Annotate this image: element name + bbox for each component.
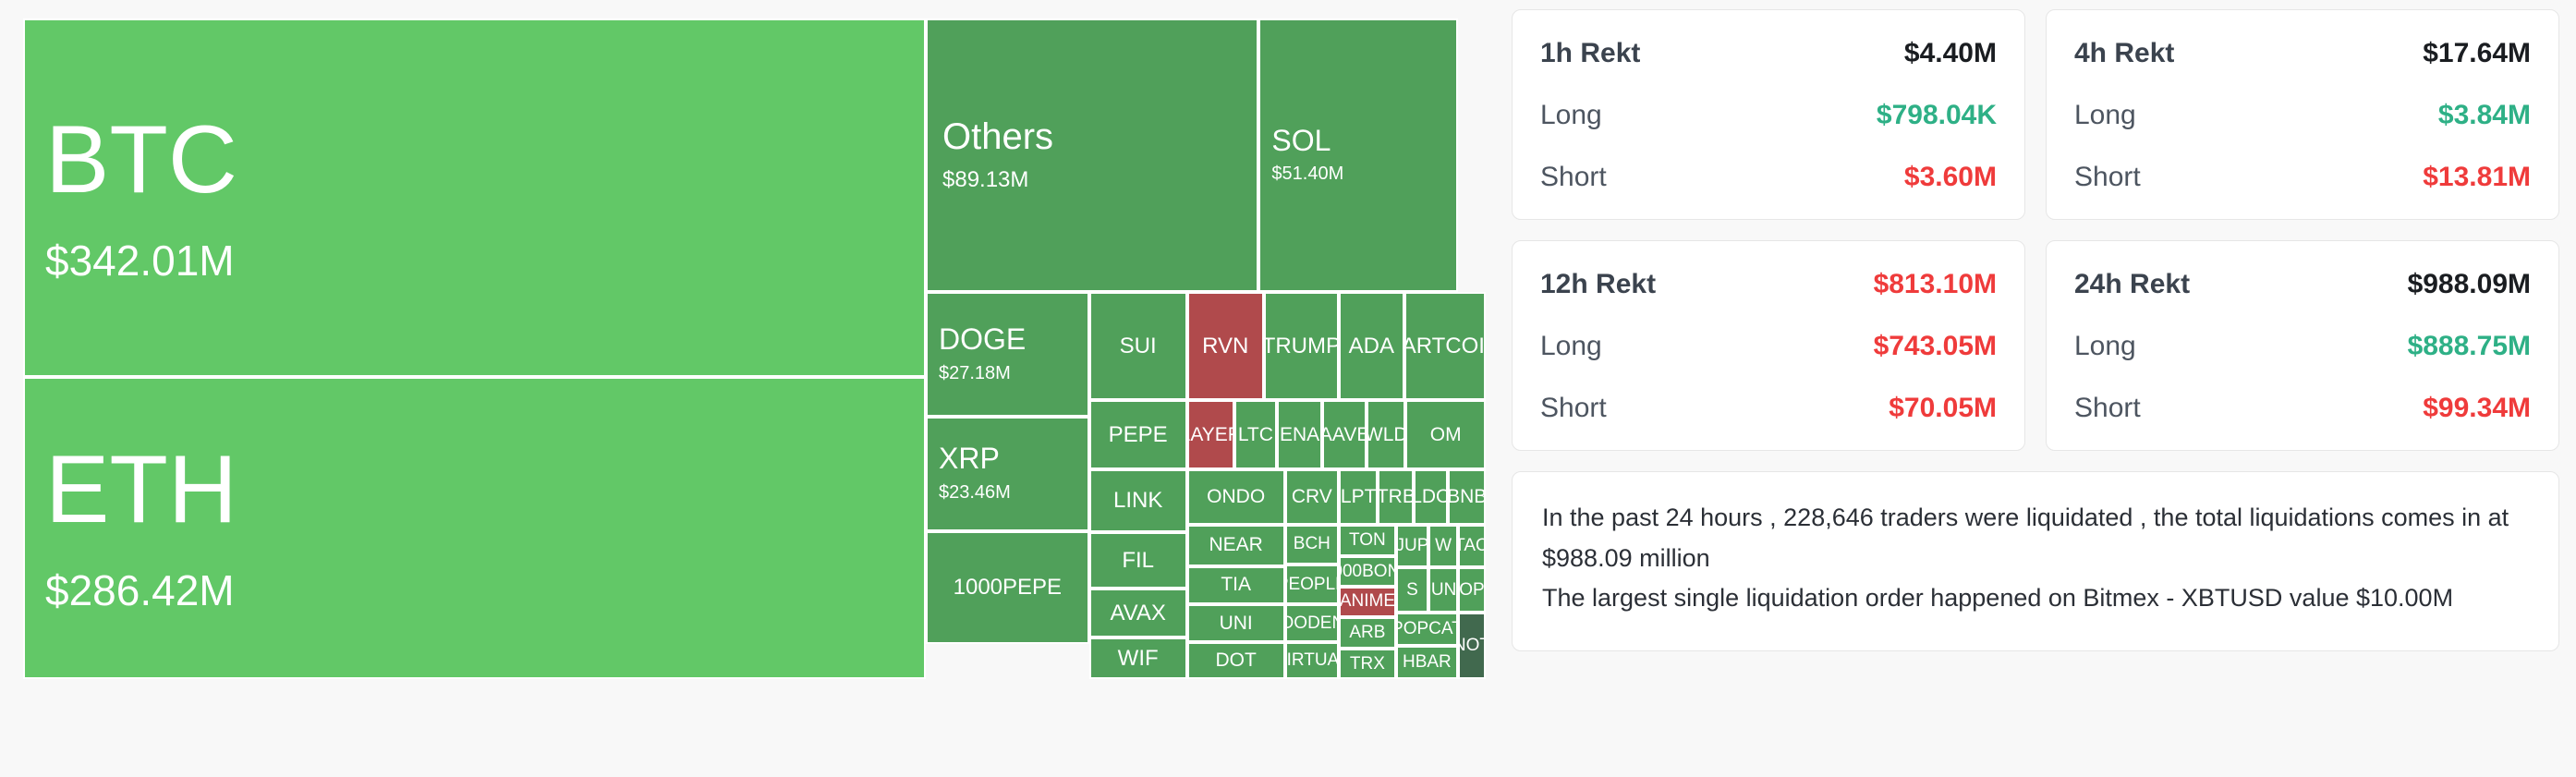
tile-symbol: XRP	[939, 443, 1076, 475]
tile-symbol: ENA	[1280, 425, 1319, 445]
tile-symbol: OM	[1430, 425, 1462, 445]
tile-symbol: 1000BONK	[1339, 563, 1396, 581]
tile-symbol: PEPE	[1109, 423, 1168, 446]
treemap-tile-aave[interactable]: AAVE	[1322, 400, 1367, 468]
treemap-tile-not[interactable]: NOT	[1458, 613, 1486, 679]
tile-symbol: NOT	[1458, 637, 1486, 655]
treemap-tile-trb[interactable]: TRB	[1378, 469, 1414, 525]
tile-symbol: AAVE	[1322, 425, 1367, 445]
treemap-tile-virtual[interactable]: VIRTUAL	[1285, 642, 1339, 679]
treemap-tile-link[interactable]: LINK	[1089, 469, 1187, 533]
tile-symbol: POPCAT	[1396, 620, 1458, 638]
tile-symbol: SUI	[1120, 334, 1157, 358]
treemap-tile-crv[interactable]: CRV	[1285, 469, 1339, 525]
long-value: $743.05M	[1874, 331, 1997, 362]
tile-symbol: Others	[942, 117, 1242, 156]
tile-symbol: SOL	[1271, 126, 1445, 157]
stats-panel: 1h Rekt$4.40MLong$798.04KShort$3.60M4h R…	[1495, 0, 2576, 777]
card-row: 1h Rekt$4.40M	[1540, 38, 1997, 69]
tile-symbol: LTC	[1238, 425, 1273, 445]
treemap-tile-people[interactable]: PEOPLE	[1285, 565, 1339, 604]
tile-symbol: RUNE	[1428, 581, 1458, 600]
short-value: $3.60M	[1904, 162, 1997, 193]
card-row: Short$70.05M	[1540, 393, 1997, 424]
long-label: Long	[1540, 100, 1602, 131]
treemap-tile-moodeng[interactable]: MOODENG	[1285, 604, 1339, 642]
treemap-tile-arb[interactable]: ARB	[1339, 617, 1396, 649]
rekt-card-grid: 1h Rekt$4.40MLong$798.04KShort$3.60M4h R…	[1512, 9, 2559, 451]
summary-card: In the past 24 hours , 228,646 traders w…	[1512, 471, 2559, 651]
card-row: Long$888.75M	[2074, 331, 2531, 362]
treemap-tile-trump[interactable]: TRUMP	[1264, 292, 1339, 400]
tile-value: $27.18M	[939, 363, 1076, 384]
tile-symbol: TON	[1349, 531, 1386, 550]
treemap-tile-btc[interactable]: BTC$342.01M	[23, 18, 926, 377]
rekt-card-12h: 12h Rekt$813.10MLong$743.05MShort$70.05M	[1512, 240, 2025, 451]
tile-symbol: NEAR	[1209, 535, 1262, 555]
treemap-tile-s[interactable]: S	[1396, 567, 1428, 612]
treemap-tile-anime[interactable]: ANIME	[1339, 587, 1396, 617]
treemap-tile-near[interactable]: NEAR	[1187, 525, 1285, 566]
tile-value: $342.01M	[45, 237, 904, 285]
card-row: Long$743.05M	[1540, 331, 1997, 362]
treemap-tile-rune[interactable]: RUNE	[1428, 567, 1458, 612]
tile-symbol: CRV	[1292, 487, 1332, 507]
treemap-tile-doge[interactable]: DOGE$27.18M	[926, 292, 1089, 416]
tile-symbol: BNB	[1448, 487, 1486, 507]
short-label: Short	[2074, 393, 2141, 424]
summary-line-2: The largest single liquidation order hap…	[1542, 578, 2529, 619]
treemap-tile-uni[interactable]: UNI	[1187, 604, 1285, 642]
tile-symbol: ARB	[1349, 624, 1385, 642]
treemap-tile-ondo[interactable]: ONDO	[1187, 469, 1285, 525]
tile-symbol: LDO	[1414, 487, 1448, 507]
long-value: $888.75M	[2408, 331, 2531, 362]
short-value: $70.05M	[1889, 393, 1997, 424]
tile-symbol: WLD	[1367, 425, 1405, 445]
treemap-tile-lpt[interactable]: LPT	[1339, 469, 1378, 525]
treemap-tile-tao[interactable]: TAO	[1458, 525, 1486, 568]
treemap-tile-trx[interactable]: TRX	[1339, 649, 1396, 679]
tile-value: $51.40M	[1271, 164, 1445, 185]
short-label: Short	[1540, 162, 1607, 193]
rekt-card-total: $813.10M	[1874, 269, 1997, 300]
treemap-tile-op[interactable]: OP	[1458, 567, 1486, 612]
tile-symbol: BTC	[45, 110, 904, 211]
card-row: Long$798.04K	[1540, 100, 1997, 131]
short-value: $99.34M	[2423, 393, 2531, 424]
tile-symbol: ETH	[45, 440, 904, 540]
rekt-card-title: 12h Rekt	[1540, 269, 1656, 300]
long-label: Long	[1540, 331, 1602, 362]
short-label: Short	[1540, 393, 1607, 424]
tile-value: $23.46M	[939, 482, 1076, 504]
tile-symbol: RVN	[1202, 334, 1248, 358]
tile-symbol: ANIME	[1340, 592, 1395, 611]
short-value: $13.81M	[2423, 162, 2531, 193]
tile-symbol: PEOPLE	[1285, 576, 1339, 594]
long-label: Long	[2074, 100, 2136, 131]
card-row: 24h Rekt$988.09M	[2074, 269, 2531, 300]
tile-symbol: TRX	[1350, 655, 1385, 674]
tile-symbol: W	[1435, 537, 1452, 555]
card-row: Short$3.60M	[1540, 162, 1997, 193]
tile-symbol: LPT	[1341, 487, 1377, 507]
rekt-card-1h: 1h Rekt$4.40MLong$798.04KShort$3.60M	[1512, 9, 2025, 220]
card-row: Long$3.84M	[2074, 100, 2531, 131]
rekt-card-total: $17.64M	[2423, 38, 2531, 69]
treemap-tile-wld[interactable]: WLD	[1367, 400, 1405, 468]
tile-symbol: 1000PEPE	[954, 576, 1062, 599]
tile-value: $89.13M	[942, 167, 1242, 193]
tile-symbol: JUP	[1396, 537, 1428, 555]
treemap-tile-ton[interactable]: TON	[1339, 525, 1396, 556]
tile-symbol: TRUMP	[1264, 334, 1339, 358]
tile-symbol: DOT	[1216, 650, 1257, 671]
treemap-tile-ena[interactable]: ENA	[1277, 400, 1322, 468]
treemap-tile-avax[interactable]: AVAX	[1089, 589, 1187, 637]
short-label: Short	[2074, 162, 2141, 193]
tile-symbol: BCH	[1294, 535, 1331, 553]
rekt-card-24h: 24h Rekt$988.09MLong$888.75MShort$99.34M	[2046, 240, 2559, 451]
treemap-tile-1000bonk[interactable]: 1000BONK	[1339, 556, 1396, 587]
treemap-tile-pepe[interactable]: PEPE	[1089, 400, 1187, 468]
treemap-tile-ada[interactable]: ADA	[1339, 292, 1404, 400]
card-row: 12h Rekt$813.10M	[1540, 269, 1997, 300]
treemap-tile-hbar[interactable]: HBAR	[1396, 646, 1458, 679]
liquidation-treemap[interactable]: BTC$342.01METH$286.42MOthers$89.13MSOL$5…	[23, 18, 1486, 679]
tile-symbol: ADA	[1349, 334, 1394, 358]
treemap-tile-sui[interactable]: SUI	[1089, 292, 1187, 400]
long-value: $798.04K	[1877, 100, 1997, 131]
rekt-card-total: $988.09M	[2408, 269, 2531, 300]
tile-symbol: UNI	[1220, 613, 1253, 634]
treemap-tile-1000pepe[interactable]: 1000PEPE	[926, 531, 1089, 644]
tile-symbol: S	[1406, 581, 1418, 600]
card-row: Short$99.34M	[2074, 393, 2531, 424]
long-label: Long	[2074, 331, 2136, 362]
rekt-card-title: 24h Rekt	[2074, 269, 2190, 300]
treemap-tile-om[interactable]: OM	[1405, 400, 1486, 468]
tile-value: $286.42M	[45, 566, 904, 615]
treemap-tile-w[interactable]: W	[1428, 525, 1458, 568]
tile-symbol: TRB	[1378, 487, 1414, 507]
treemap-tile-eth[interactable]: ETH$286.42M	[23, 377, 926, 679]
treemap-tile-ltc[interactable]: LTC	[1234, 400, 1277, 468]
tile-symbol: HBAR	[1403, 653, 1452, 672]
tile-symbol: ONDO	[1207, 487, 1265, 507]
card-row: 4h Rekt$17.64M	[2074, 38, 2531, 69]
tile-symbol: FIL	[1122, 549, 1154, 572]
treemap-tile-fil[interactable]: FIL	[1089, 532, 1187, 588]
liquidation-dashboard: BTC$342.01METH$286.42MOthers$89.13MSOL$5…	[0, 0, 2576, 777]
summary-line-1: In the past 24 hours , 228,646 traders w…	[1542, 498, 2529, 578]
tile-symbol: AVAX	[1110, 601, 1165, 625]
tile-symbol: LAYER	[1187, 425, 1234, 445]
tile-symbol: OP	[1459, 581, 1484, 600]
treemap-tile-popcat[interactable]: POPCAT	[1396, 613, 1458, 646]
treemap-tile-rvn[interactable]: RVN	[1187, 292, 1264, 400]
rekt-card-title: 1h Rekt	[1540, 38, 1640, 69]
rekt-card-total: $4.40M	[1904, 38, 1997, 69]
treemap-tile-ldo[interactable]: LDO	[1414, 469, 1448, 525]
tile-symbol: LINK	[1113, 489, 1162, 512]
tile-symbol: VIRTUAL	[1285, 651, 1339, 670]
card-row: Short$13.81M	[2074, 162, 2531, 193]
tile-symbol: FARTCOIN	[1404, 334, 1486, 358]
treemap-tile-tia[interactable]: TIA	[1187, 566, 1285, 604]
treemap-tile-layer[interactable]: LAYER	[1187, 400, 1234, 468]
tile-symbol: MOODENG	[1285, 614, 1339, 633]
treemap-tile-xrp[interactable]: XRP$23.46M	[926, 417, 1089, 531]
treemap-tile-bch[interactable]: BCH	[1285, 525, 1339, 565]
rekt-card-4h: 4h Rekt$17.64MLong$3.84MShort$13.81M	[2046, 9, 2559, 220]
tile-symbol: TAO	[1458, 537, 1486, 555]
treemap-tile-others[interactable]: Others$89.13M	[926, 18, 1258, 292]
treemap-tile-wif[interactable]: WIF	[1089, 637, 1187, 679]
treemap-tile-jup[interactable]: JUP	[1396, 525, 1428, 568]
treemap-tile-sol[interactable]: SOL$51.40M	[1258, 18, 1458, 292]
tile-symbol: TIA	[1221, 575, 1251, 595]
tile-symbol: DOGE	[939, 324, 1076, 356]
treemap-tile-fartcoin[interactable]: FARTCOIN	[1404, 292, 1486, 400]
treemap-tile-bnb[interactable]: BNB	[1448, 469, 1486, 525]
rekt-card-title: 4h Rekt	[2074, 38, 2174, 69]
treemap-tile-dot[interactable]: DOT	[1187, 642, 1285, 679]
tile-symbol: WIF	[1118, 647, 1159, 670]
long-value: $3.84M	[2438, 100, 2531, 131]
